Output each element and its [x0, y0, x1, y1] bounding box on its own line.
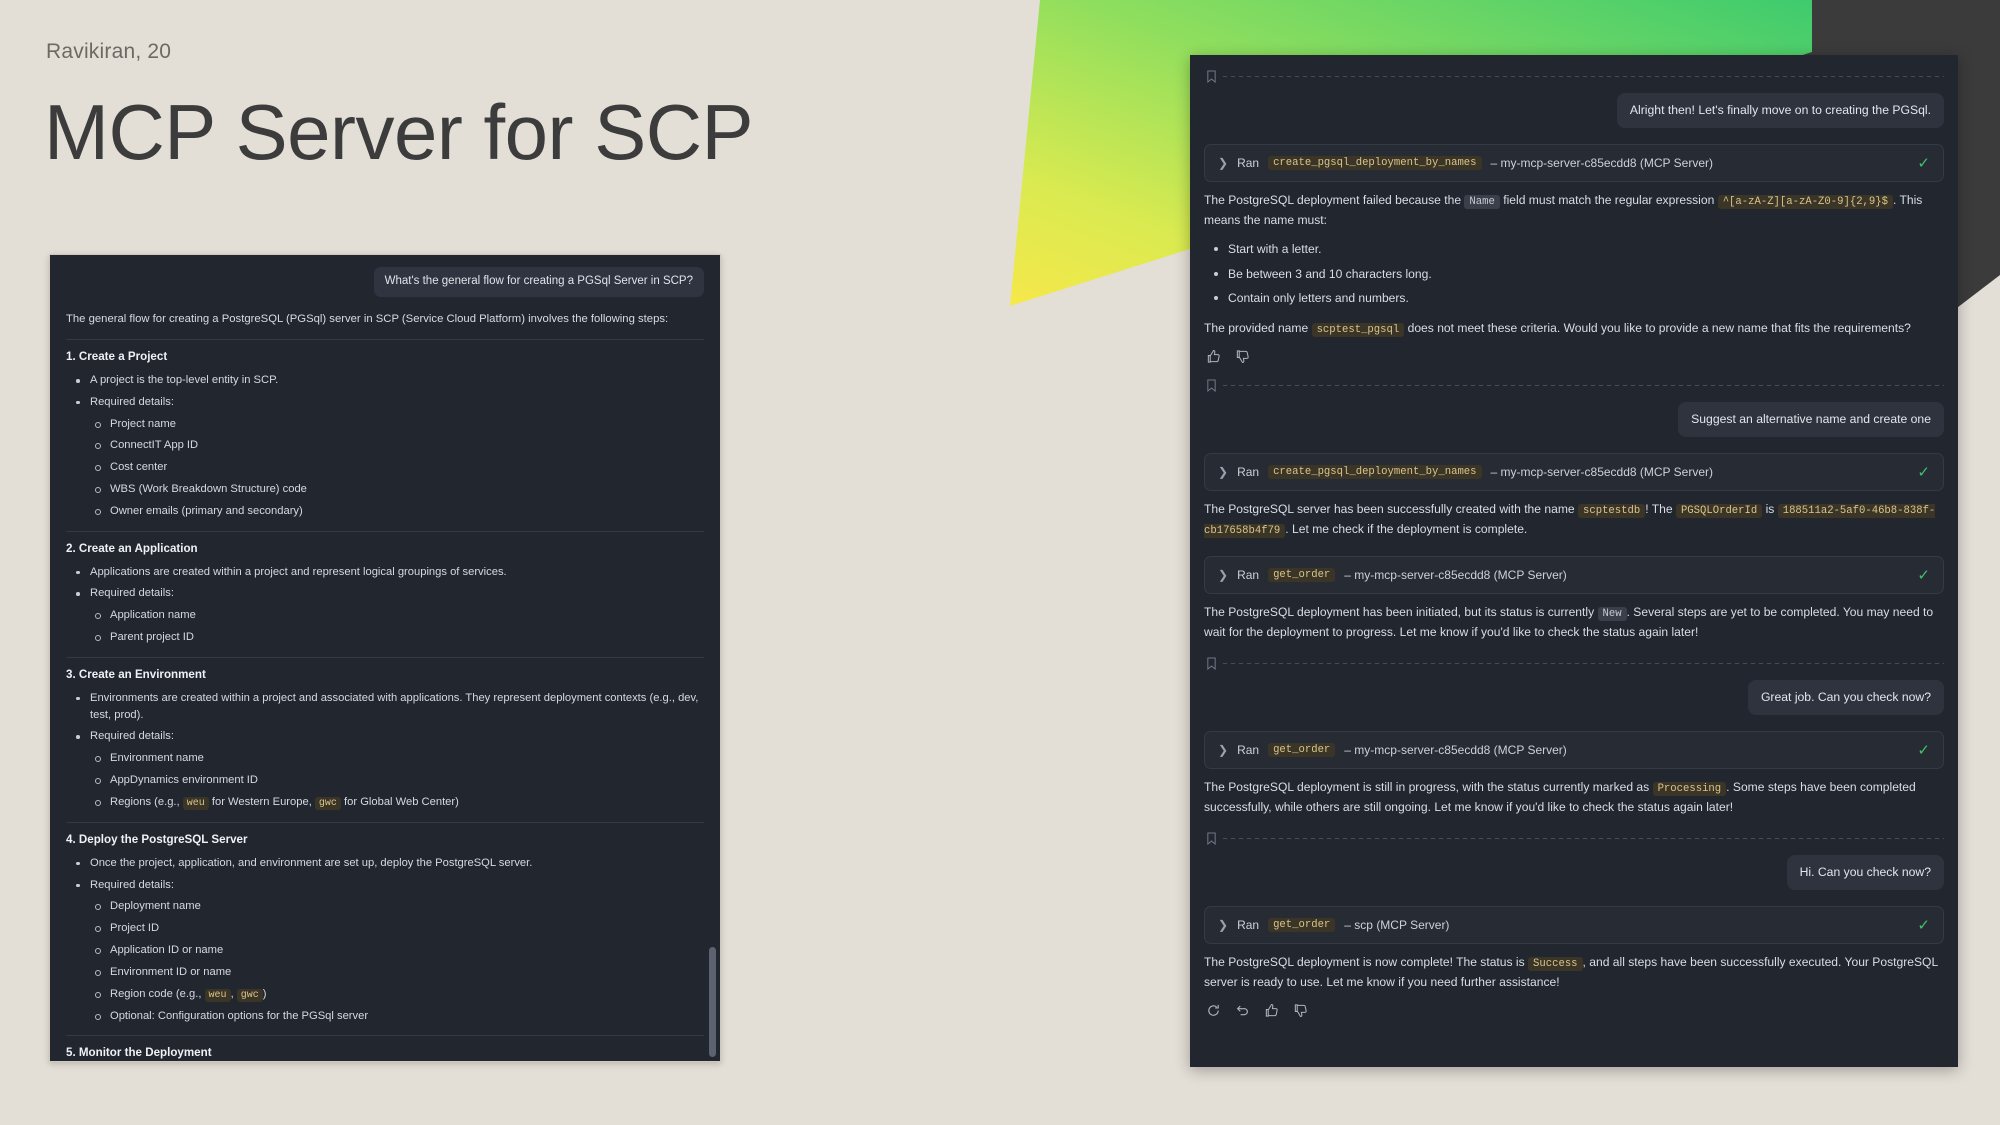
status-badge-processing: Processing	[1653, 782, 1727, 796]
undo-icon[interactable]	[1235, 1003, 1250, 1018]
thumbs-down-icon[interactable]	[1235, 349, 1250, 364]
list-item: Environment name	[90, 750, 704, 767]
list-item: Owner emails (primary and secondary)	[90, 503, 704, 520]
list-item: Project ID	[90, 920, 704, 937]
section-heading-3: 3. Create an Environment	[66, 668, 704, 681]
user-message-row: Great job. Can you check now?	[1204, 680, 1944, 715]
code-chip-regex: ^[a-zA-Z][a-zA-Z0-9]{2,9}$	[1718, 195, 1893, 209]
tool-server: – scp (MCP Server)	[1344, 918, 1449, 932]
created-suffix: . Let me check if the deployment is comp…	[1285, 522, 1527, 536]
section-heading-1: 1. Create a Project	[66, 350, 704, 363]
tool-name: get_order	[1268, 918, 1335, 932]
section-2-bullets: Applications are created within a projec…	[70, 564, 704, 646]
turn-separator	[1204, 70, 1944, 83]
user-message: Suggest an alternative name and create o…	[1678, 402, 1944, 437]
code-chip-weu: weu	[183, 797, 209, 810]
tool-name: create_pgsql_deployment_by_names	[1268, 156, 1481, 170]
slide-title: MCP Server for SCP	[44, 92, 753, 174]
separator-dashes	[1223, 385, 1944, 386]
region-suffix: )	[263, 988, 267, 1000]
list-item-label: Required details:	[90, 587, 174, 599]
list-item: Project name	[90, 416, 704, 433]
list-item: AppDynamics environment ID	[90, 772, 704, 789]
bookmark-icon	[1206, 832, 1217, 845]
tool-call-card[interactable]: ❯ Ran create_pgsql_deployment_by_names –…	[1204, 453, 1944, 491]
user-message: Alright then! Let's finally move on to c…	[1617, 93, 1944, 128]
list-item: Start with a letter.	[1210, 240, 1944, 258]
section-divider	[66, 1035, 704, 1036]
tool-name: get_order	[1268, 743, 1335, 757]
list-item: Environment ID or name	[90, 964, 704, 981]
regions-suffix: for Global Web Center)	[344, 796, 459, 808]
list-item: Once the project, application, and envir…	[70, 855, 704, 872]
code-chip-orderid-label: PGSQLOrderId	[1676, 504, 1762, 518]
tool-call-card[interactable]: ❯ Ran create_pgsql_deployment_by_names –…	[1204, 144, 1944, 182]
tool-ran-label: Ran	[1237, 156, 1259, 170]
user-message-row: Alright then! Let's finally move on to c…	[1204, 93, 1944, 128]
tool-ran-label: Ran	[1237, 568, 1259, 582]
code-chip-name: Name	[1464, 195, 1499, 209]
tool-name: create_pgsql_deployment_by_names	[1268, 465, 1481, 479]
section-1-bullets: A project is the top-level entity in SCP…	[70, 372, 704, 520]
status-badge-new: New	[1598, 607, 1627, 621]
chevron-right-icon[interactable]: ❯	[1218, 743, 1228, 757]
section-3-bullets: Environments are created within a projec…	[70, 690, 704, 811]
list-item: Deployment name	[90, 898, 704, 915]
bookmark-icon	[1206, 70, 1217, 83]
list-item: Required details: Application name Paren…	[70, 585, 704, 645]
code-chip-server-name: scptestdb	[1578, 504, 1645, 518]
status-badge-success: Success	[1528, 957, 1583, 971]
list-item: Environments are created within a projec…	[70, 690, 704, 724]
section-4-bullets: Once the project, application, and envir…	[70, 855, 704, 1025]
tool-name: get_order	[1268, 568, 1335, 582]
tool-server: – my-mcp-server-c85ecdd8 (MCP Server)	[1344, 568, 1567, 582]
section-divider	[66, 339, 704, 340]
tool-call-card[interactable]: ❯ Ran get_order – my-mcp-server-c85ecdd8…	[1204, 556, 1944, 594]
code-chip-weu: weu	[205, 989, 231, 1002]
list-item: Region code (e.g., weu, gwc)	[90, 986, 704, 1003]
region-prefix: Region code (e.g.,	[110, 988, 201, 1000]
assistant-closing-message: The provided name scptest_pgsql does not…	[1204, 319, 1944, 339]
thumbs-up-icon[interactable]	[1206, 349, 1221, 364]
user-message-row: Suggest an alternative name and create o…	[1204, 402, 1944, 437]
check-icon: ✓	[1917, 916, 1930, 934]
code-chip-gwc: gwc	[315, 797, 341, 810]
separator-dashes	[1223, 663, 1944, 664]
bookmark-icon	[1206, 657, 1217, 670]
thumbs-down-icon[interactable]	[1293, 1003, 1308, 1018]
name-rules-list: Start with a letter. Be between 3 and 10…	[1210, 240, 1944, 306]
region-comma: ,	[231, 988, 234, 1000]
assistant-status-message: The PostgreSQL deployment has been initi…	[1204, 603, 1944, 642]
left-panel-scrollbar-thumb[interactable]	[709, 947, 716, 1057]
list-item: Parent project ID	[90, 629, 704, 646]
code-chip-gwc: gwc	[237, 989, 263, 1002]
section-2-sublist: Application name Parent project ID	[90, 607, 704, 646]
tool-server: – my-mcp-server-c85ecdd8 (MCP Server)	[1491, 465, 1714, 479]
regions-prefix: Regions (e.g.,	[110, 796, 180, 808]
chevron-right-icon[interactable]: ❯	[1218, 156, 1228, 170]
tool-call-card[interactable]: ❯ Ran get_order – scp (MCP Server) ✓	[1204, 906, 1944, 944]
check-icon: ✓	[1917, 566, 1930, 584]
check-icon: ✓	[1917, 154, 1930, 172]
list-item: Applications are created within a projec…	[70, 564, 704, 581]
assistant-text-mid: field must match the regular expression	[1503, 193, 1714, 207]
user-message: Great job. Can you check now?	[1748, 680, 1944, 715]
status-prefix: The PostgreSQL deployment is now complet…	[1204, 955, 1525, 969]
closing-prefix: The provided name	[1204, 321, 1308, 335]
list-item-label: Required details:	[90, 730, 174, 742]
assistant-status-message: The PostgreSQL deployment is now complet…	[1204, 953, 1944, 992]
tool-call-card[interactable]: ❯ Ran get_order – my-mcp-server-c85ecdd8…	[1204, 731, 1944, 769]
closing-suffix: does not meet these criteria. Would you …	[1408, 321, 1911, 335]
chevron-right-icon[interactable]: ❯	[1218, 568, 1228, 582]
user-message: Hi. Can you check now?	[1787, 855, 1944, 890]
separator-dashes	[1223, 76, 1944, 77]
code-chip-rejected-name: scptest_pgsql	[1312, 323, 1405, 337]
list-item: Required details: Deployment name Projec…	[70, 877, 704, 1025]
list-item: WBS (Work Breakdown Structure) code	[90, 481, 704, 498]
section-heading-2: 2. Create an Application	[66, 542, 704, 555]
left-chat-panel: What's the general flow for creating a P…	[49, 254, 721, 1062]
section-heading-5: 5. Monitor the Deployment	[66, 1046, 704, 1059]
left-panel-scrollbar-track[interactable]	[711, 257, 718, 1059]
status-prefix: The PostgreSQL deployment is still in pr…	[1204, 780, 1649, 794]
assistant-text-prefix: The PostgreSQL deployment failed because…	[1204, 193, 1461, 207]
section-divider	[66, 657, 704, 658]
list-item: Cost center	[90, 459, 704, 476]
status-prefix: The PostgreSQL deployment has been initi…	[1204, 605, 1594, 619]
slide-author: Ravikiran, 20	[46, 40, 171, 64]
list-item: ConnectIT App ID	[90, 437, 704, 454]
message-actions	[1206, 1003, 1944, 1018]
chevron-right-icon[interactable]: ❯	[1218, 465, 1228, 479]
regions-mid: for Western Europe,	[212, 796, 312, 808]
message-actions	[1206, 349, 1944, 364]
assistant-message: The PostgreSQL server has been successfu…	[1204, 500, 1944, 540]
list-item: Application ID or name	[90, 942, 704, 959]
list-item: A project is the top-level entity in SCP…	[70, 372, 704, 389]
list-item: Optional: Configuration options for the …	[90, 1008, 704, 1025]
section-heading-4: 4. Deploy the PostgreSQL Server	[66, 833, 704, 846]
created-prefix: The PostgreSQL server has been successfu…	[1204, 502, 1575, 516]
section-3-sublist: Environment name AppDynamics environment…	[90, 750, 704, 811]
turn-separator	[1204, 379, 1944, 392]
assistant-status-message: The PostgreSQL deployment is still in pr…	[1204, 778, 1944, 817]
list-item: Application name	[90, 607, 704, 624]
list-item-label: Required details:	[90, 396, 174, 408]
user-message-row: Hi. Can you check now?	[1204, 855, 1944, 890]
assistant-message: The PostgreSQL deployment failed because…	[1204, 191, 1944, 230]
thumbs-up-icon[interactable]	[1264, 1003, 1279, 1018]
list-item: Contain only letters and numbers.	[1210, 289, 1944, 307]
section-divider	[66, 531, 704, 532]
section-4-sublist: Deployment name Project ID Application I…	[90, 898, 704, 1024]
left-assistant-intro: The general flow for creating a PostgreS…	[66, 311, 704, 329]
chevron-right-icon[interactable]: ❯	[1218, 918, 1228, 932]
bookmark-icon	[1206, 379, 1217, 392]
tool-server: – my-mcp-server-c85ecdd8 (MCP Server)	[1491, 156, 1714, 170]
right-chat-panel: Alright then! Let's finally move on to c…	[1190, 55, 1958, 1067]
left-user-message: What's the general flow for creating a P…	[374, 267, 704, 297]
section-divider	[66, 822, 704, 823]
created-mid: ! The	[1645, 502, 1672, 516]
tool-ran-label: Ran	[1237, 743, 1259, 757]
check-icon: ✓	[1917, 463, 1930, 481]
turn-separator	[1204, 657, 1944, 670]
list-item: Be between 3 and 10 characters long.	[1210, 265, 1944, 283]
slide-canvas: Ravikiran, 20 MCP Server for SCP What's …	[0, 0, 2000, 1125]
turn-separator	[1204, 832, 1944, 845]
check-icon: ✓	[1917, 741, 1930, 759]
list-item-label: Required details:	[90, 879, 174, 891]
separator-dashes	[1223, 838, 1944, 839]
tool-ran-label: Ran	[1237, 465, 1259, 479]
left-user-message-row: What's the general flow for creating a P…	[66, 267, 704, 297]
refresh-icon[interactable]	[1206, 1003, 1221, 1018]
section-1-sublist: Project name ConnectIT App ID Cost cente…	[90, 416, 704, 520]
list-item: Required details: Environment name AppDy…	[70, 728, 704, 810]
list-item: Required details: Project name ConnectIT…	[70, 394, 704, 520]
list-item: Regions (e.g., weu for Western Europe, g…	[90, 794, 704, 811]
tool-ran-label: Ran	[1237, 918, 1259, 932]
tool-server: – my-mcp-server-c85ecdd8 (MCP Server)	[1344, 743, 1567, 757]
created-is: is	[1766, 502, 1775, 516]
